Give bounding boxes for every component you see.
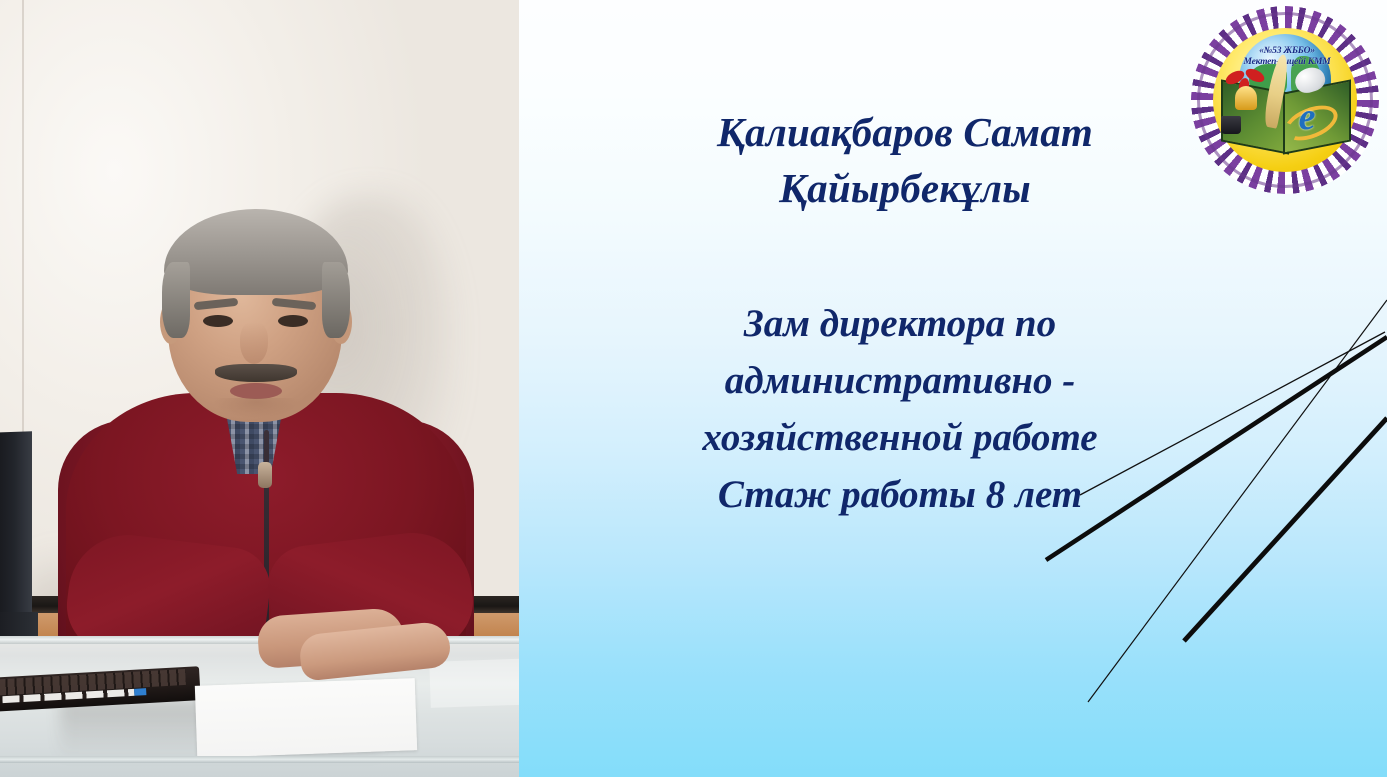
sweater-zipper-pull <box>258 462 272 488</box>
logo-title: «№53 ЖББО» Мектеп-лицейі КММ <box>1235 46 1339 67</box>
person-name: Қалиақбаров Самат Қайырбекұлы <box>610 104 1200 216</box>
school-logo: «№53 ЖББО» Мектеп-лицейі КММ e <box>1191 6 1379 194</box>
person-role-block: Зам директора по административно - хозяй… <box>580 295 1220 523</box>
person-hair-side-left <box>162 262 190 338</box>
logo-title-line-1: «№53 ЖББО» <box>1235 46 1339 57</box>
person-name-line-1: Қалиақбаров Самат <box>610 104 1200 160</box>
ie-letter-e: e <box>1287 98 1327 138</box>
person-role-line-3: хозяйственной работе <box>580 409 1220 466</box>
paper-sheet <box>195 678 417 758</box>
keyboard-blue-key <box>134 688 146 696</box>
person-eye-left <box>203 315 233 327</box>
logo-title-line-2: Мектеп-лицейі КММ <box>1235 57 1339 68</box>
person-nose <box>240 322 268 364</box>
slide: Қалиақбаров Самат Қайырбекұлы Зам директ… <box>0 0 1387 777</box>
person-eye-right <box>278 315 308 327</box>
person-role-line-1: Зам директора по <box>580 295 1220 352</box>
person-photo <box>0 0 519 777</box>
text-column: Қалиақбаров Самат Қайырбекұлы Зам директ… <box>560 0 1240 777</box>
person-experience: Стаж работы 8 лет <box>580 466 1220 523</box>
inkwell-icon <box>1221 116 1241 134</box>
glass-desk-edge-front <box>0 756 519 763</box>
person-hair-side-right <box>322 262 350 338</box>
person-mouth <box>230 383 282 399</box>
person-mustache <box>215 364 297 382</box>
person-chin-shadow <box>214 398 298 418</box>
bell-icon <box>1235 86 1257 110</box>
person-name-line-2: Қайырбекұлы <box>610 160 1200 216</box>
internet-explorer-icon: e <box>1287 98 1327 138</box>
person-role-line-2: административно - <box>580 352 1220 409</box>
desk-paper-secondary <box>429 658 519 708</box>
